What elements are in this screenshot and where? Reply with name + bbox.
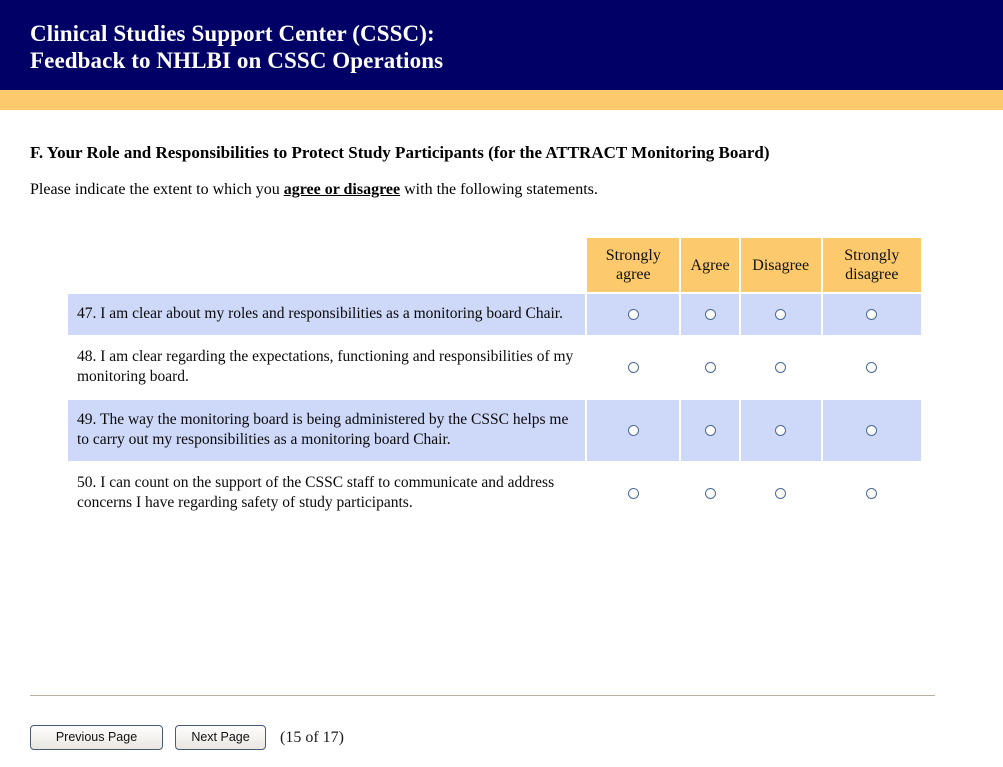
matrix-row: 50. I can count on the support of the CS… — [68, 463, 921, 524]
footer-navigation: Previous Page Next Page (15 of 17) — [30, 725, 344, 750]
section-heading: F. Your Role and Responsibilities to Pro… — [30, 142, 1003, 163]
matrix-row: 47. I am clear about my roles and respon… — [68, 294, 921, 335]
next-page-button[interactable]: Next Page — [175, 725, 266, 750]
instruction-emphasis: agree or disagree — [284, 181, 400, 198]
option-cell-agree[interactable] — [681, 294, 738, 335]
instruction-suffix: with the following statements. — [400, 181, 598, 198]
option-cell-agree[interactable] — [681, 337, 738, 398]
matrix-row: 48. I am clear regarding the expectation… — [68, 337, 921, 398]
matrix-row: 49. The way the monitoring board is bein… — [68, 400, 921, 461]
option-cell-disagree[interactable] — [741, 400, 821, 461]
radio-agree[interactable] — [705, 425, 716, 436]
radio-strongly-agree[interactable] — [628, 488, 639, 499]
radio-strongly-agree[interactable] — [628, 362, 639, 373]
question-text-cell: 47. I am clear about my roles and respon… — [68, 294, 585, 335]
option-cell-strongly-agree[interactable] — [587, 400, 679, 461]
radio-strongly-agree[interactable] — [628, 425, 639, 436]
page-banner: Clinical Studies Support Center (CSSC): … — [0, 0, 1003, 90]
instruction-text: Please indicate the extent to which you … — [30, 180, 1003, 200]
page-indicator: (15 of 17) — [280, 729, 344, 747]
banner-accent-strip — [0, 90, 1003, 110]
option-cell-strongly-disagree[interactable] — [823, 294, 921, 335]
option-cell-agree[interactable] — [681, 400, 738, 461]
option-cell-strongly-agree[interactable] — [587, 463, 679, 524]
matrix-body: 47. I am clear about my roles and respon… — [68, 294, 921, 524]
footer-divider — [30, 695, 935, 696]
radio-agree[interactable] — [705, 488, 716, 499]
page-content: F. Your Role and Responsibilities to Pro… — [0, 142, 1003, 526]
option-cell-disagree[interactable] — [741, 337, 821, 398]
radio-agree[interactable] — [705, 309, 716, 320]
previous-page-button[interactable]: Previous Page — [30, 725, 163, 750]
radio-strongly-disagree[interactable] — [866, 309, 877, 320]
radio-strongly-disagree[interactable] — [866, 488, 877, 499]
option-cell-strongly-disagree[interactable] — [823, 463, 921, 524]
option-cell-strongly-agree[interactable] — [587, 337, 679, 398]
radio-disagree[interactable] — [775, 425, 786, 436]
radio-disagree[interactable] — [775, 488, 786, 499]
radio-disagree[interactable] — [775, 362, 786, 373]
radio-strongly-agree[interactable] — [628, 309, 639, 320]
option-cell-strongly-disagree[interactable] — [823, 400, 921, 461]
option-cell-strongly-disagree[interactable] — [823, 337, 921, 398]
radio-strongly-disagree[interactable] — [866, 362, 877, 373]
matrix-corner-cell — [68, 238, 585, 292]
matrix-header-row: Strongly agree Agree Disagree Strongly d… — [68, 238, 921, 292]
question-text-cell: 48. I am clear regarding the expectation… — [68, 337, 585, 398]
column-header-strongly-agree: Strongly agree — [587, 238, 679, 292]
column-header-strongly-disagree: Strongly disagree — [823, 238, 921, 292]
option-cell-disagree[interactable] — [741, 463, 821, 524]
radio-agree[interactable] — [705, 362, 716, 373]
option-cell-agree[interactable] — [681, 463, 738, 524]
option-cell-disagree[interactable] — [741, 294, 821, 335]
column-header-disagree: Disagree — [741, 238, 821, 292]
likert-matrix-wrapper: Strongly agree Agree Disagree Strongly d… — [30, 236, 1003, 526]
option-cell-strongly-agree[interactable] — [587, 294, 679, 335]
instruction-prefix: Please indicate the extent to which you — [30, 181, 284, 198]
radio-disagree[interactable] — [775, 309, 786, 320]
question-text-cell: 50. I can count on the support of the CS… — [68, 463, 585, 524]
banner-title: Clinical Studies Support Center (CSSC): … — [0, 0, 1003, 74]
radio-strongly-disagree[interactable] — [866, 425, 877, 436]
likert-matrix-table: Strongly agree Agree Disagree Strongly d… — [66, 236, 923, 526]
column-header-agree: Agree — [681, 238, 738, 292]
question-text-cell: 49. The way the monitoring board is bein… — [68, 400, 585, 461]
